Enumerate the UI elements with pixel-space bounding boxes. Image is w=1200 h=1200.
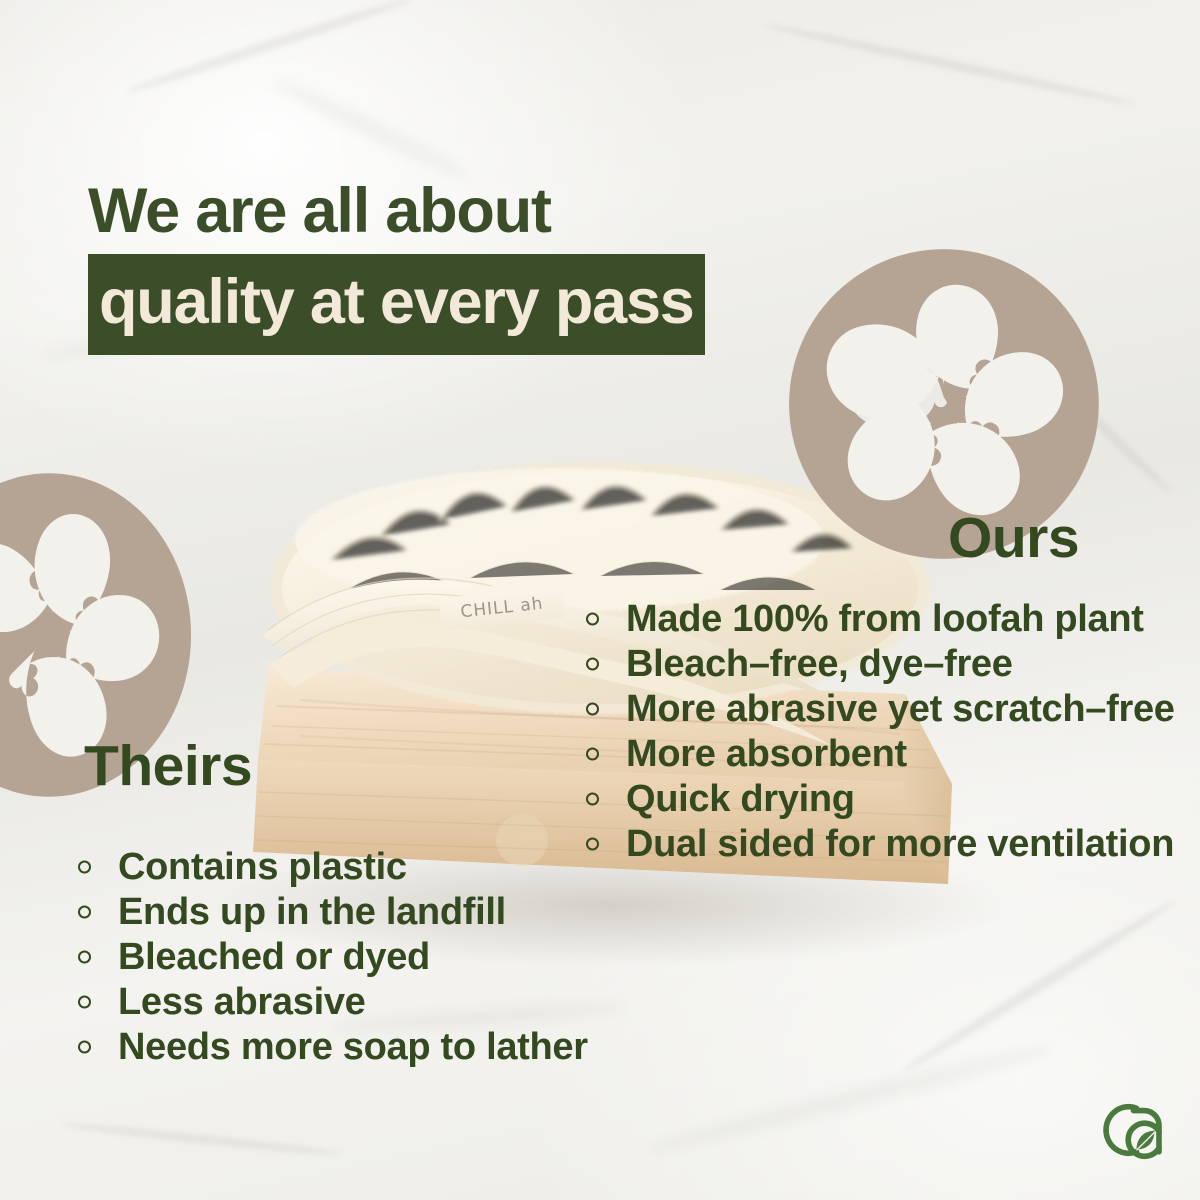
list-item: Needs more soap to lather <box>70 1028 588 1066</box>
headline-line-1: We are all about <box>88 180 848 243</box>
bullet-circle-icon <box>586 748 599 761</box>
brand-tag-text: CHILL ah <box>460 594 545 623</box>
list-item-label: Made 100% from loofah plant <box>626 598 1144 640</box>
list-item-label: Contains plastic <box>118 846 407 888</box>
headline-line-2-highlighted: quality at every pass <box>88 254 705 355</box>
list-item-label: Quick drying <box>626 778 855 820</box>
list-item-label: Needs more soap to lather <box>118 1026 588 1068</box>
list-item: More abrasive yet scratch–free <box>578 690 1175 728</box>
list-item: Ends up in the landfill <box>70 893 588 931</box>
bullet-circle-icon <box>586 703 599 716</box>
section-heading-ours: Ours <box>948 505 1079 571</box>
brand-logo-icon <box>1094 1094 1170 1166</box>
bullet-circle-icon <box>586 613 599 626</box>
list-item-label: More absorbent <box>626 733 907 775</box>
headline-block: We are all about quality at every pass <box>88 180 848 355</box>
bullet-circle-icon <box>78 996 91 1009</box>
list-item-label: Bleached or dyed <box>118 936 430 978</box>
bullet-circle-icon <box>586 658 599 671</box>
list-item: Made 100% from loofah plant <box>578 600 1175 638</box>
bullet-circle-icon <box>78 951 91 964</box>
list-item: More absorbent <box>578 735 1175 773</box>
ours-benefits-list: Made 100% from loofah plant Bleach–free,… <box>578 600 1175 870</box>
list-item: Quick drying <box>578 780 1175 818</box>
section-heading-theirs: Theirs <box>84 733 252 799</box>
theirs-drawbacks-list: Contains plastic Ends up in the landfill… <box>70 848 588 1073</box>
bullet-circle-icon <box>586 838 599 851</box>
list-item-label: Dual sided for more ventilation <box>626 823 1174 865</box>
list-item-label: Less abrasive <box>118 981 366 1023</box>
bullet-circle-icon <box>78 861 91 874</box>
list-item: Bleach–free, dye–free <box>578 645 1175 683</box>
poster-canvas: CHILL ah <box>0 0 1200 1200</box>
list-item: Bleached or dyed <box>70 938 588 976</box>
list-item: Dual sided for more ventilation <box>578 825 1175 863</box>
bullet-circle-icon <box>78 906 91 919</box>
list-item-label: Bleach–free, dye–free <box>626 643 1013 685</box>
product-brand-tag: CHILL ah <box>439 586 566 631</box>
list-item-label: More abrasive yet scratch–free <box>626 688 1175 730</box>
bullet-circle-icon <box>78 1041 91 1054</box>
bullet-circle-icon <box>586 793 599 806</box>
list-item-label: Ends up in the landfill <box>118 891 506 933</box>
list-item: Contains plastic <box>70 848 588 886</box>
list-item: Less abrasive <box>70 983 588 1021</box>
